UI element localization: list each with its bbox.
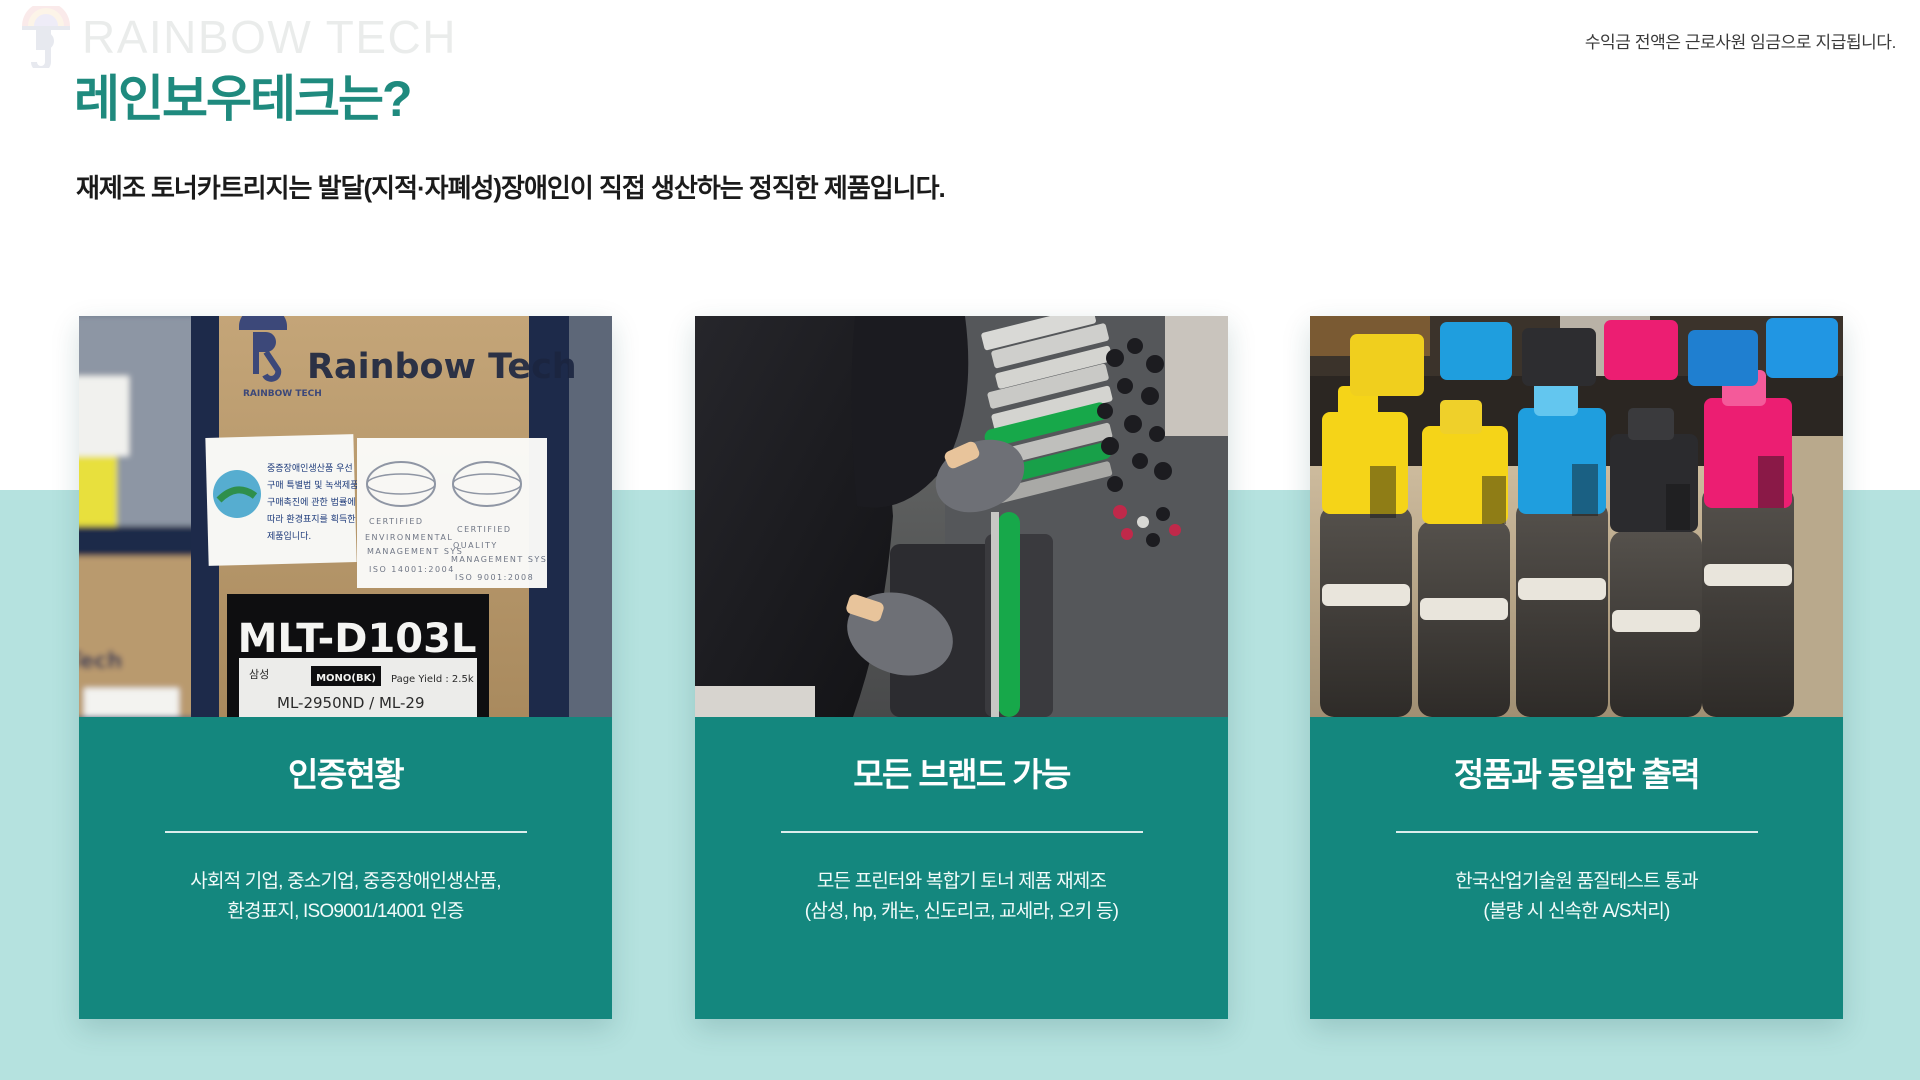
card-photo-certification-box: Tech RAINBOW TECH Rainbow Tech [79,316,612,717]
svg-text:ENVIRONMENTAL: ENVIRONMENTAL [365,533,453,542]
card-body-certification: 인증현황 사회적 기업, 중소기업, 중증장애인생산품, 환경표지, ISO90… [79,717,612,1019]
svg-text:QUALITY: QUALITY [453,541,498,550]
card-body-print-quality: 정품과 동일한 출력 한국산업기술원 품질테스트 통과 (불량 시 신속한 A/… [1310,717,1843,1019]
card-photo-cmyk-toners [1310,316,1843,717]
svg-text:제품입니다.: 제품입니다. [267,530,311,542]
card-description: 사회적 기업, 중소기업, 중증장애인생산품, 환경표지, ISO9001/14… [105,867,586,929]
card-divider [1396,831,1758,833]
card-divider [165,831,527,833]
card-description-line: 모든 프린터와 복합기 토너 제품 재제조 [721,867,1202,898]
svg-text:MONO(BK): MONO(BK) [316,673,376,684]
svg-text:MLT-D103L: MLT-D103L [238,616,477,662]
svg-text:Rainbow Tech: Rainbow Tech [307,347,577,387]
card-description: 한국산업기술원 품질테스트 통과 (불량 시 신속한 A/S처리) [1336,867,1817,929]
card-heading: 정품과 동일한 출력 [1336,755,1817,795]
feature-card-all-brands[interactable]: 모든 브랜드 가능 모든 프린터와 복합기 토너 제품 재제조 (삼성, hp,… [695,316,1228,1019]
svg-text:삼성: 삼성 [249,668,269,681]
svg-text:Tech: Tech [79,649,123,674]
card-description-line: (불량 시 신속한 A/S처리) [1336,897,1817,928]
card-description-line: 사회적 기업, 중소기업, 중증장애인생산품, [105,867,586,898]
card-description-line: 한국산업기술원 품질테스트 통과 [1336,867,1817,898]
svg-text:ISO 9001:2008: ISO 9001:2008 [455,573,534,582]
svg-text:Page Yield : 2.5k: Page Yield : 2.5k [391,674,474,685]
svg-text:따라 환경표지를 획득한: 따라 환경표지를 획득한 [267,513,356,525]
card-heading: 인증현황 [105,755,586,795]
svg-text:중증장애인생산품 우선: 중증장애인생산품 우선 [267,463,353,474]
svg-text:RAINBOW TECH: RAINBOW TECH [243,389,322,399]
card-description: 모든 프린터와 복합기 토너 제품 재제조 (삼성, hp, 캐논, 신도리코,… [721,867,1202,929]
svg-text:CERTIFIED: CERTIFIED [369,517,424,526]
feature-card-list: Tech RAINBOW TECH Rainbow Tech [0,0,1920,1080]
card-divider [781,831,1143,833]
card-description-line: 환경표지, ISO9001/14001 인증 [105,897,586,928]
card-heading: 모든 브랜드 가능 [721,755,1202,795]
svg-text:구매촉진에 관한 법률에: 구매촉진에 관한 법률에 [267,497,356,508]
svg-text:MANAGEMENT SYS: MANAGEMENT SYS [451,555,547,564]
svg-text:MANAGEMENT SYS: MANAGEMENT SYS [367,547,463,556]
card-photo-worker-assembly [695,316,1228,717]
svg-text:구매 특별법 및 녹색제품: 구매 특별법 및 녹색제품 [267,479,358,491]
svg-text:ML-2950ND / ML-29: ML-2950ND / ML-29 [277,694,425,712]
svg-text:ISO 14001:2004: ISO 14001:2004 [369,565,455,574]
card-body-all-brands: 모든 브랜드 가능 모든 프린터와 복합기 토너 제품 재제조 (삼성, hp,… [695,717,1228,1019]
feature-card-certification[interactable]: Tech RAINBOW TECH Rainbow Tech [79,316,612,1019]
slide-root: RAINBOW TECH 수익금 전액은 근로사원 임금으로 지급됩니다. 레인… [0,0,1920,1080]
feature-card-print-quality[interactable]: 정품과 동일한 출력 한국산업기술원 품질테스트 통과 (불량 시 신속한 A/… [1310,316,1843,1019]
svg-text:CERTIFIED: CERTIFIED [457,525,512,534]
card-description-line: (삼성, hp, 캐논, 신도리코, 교세라, 오키 등) [721,897,1202,928]
